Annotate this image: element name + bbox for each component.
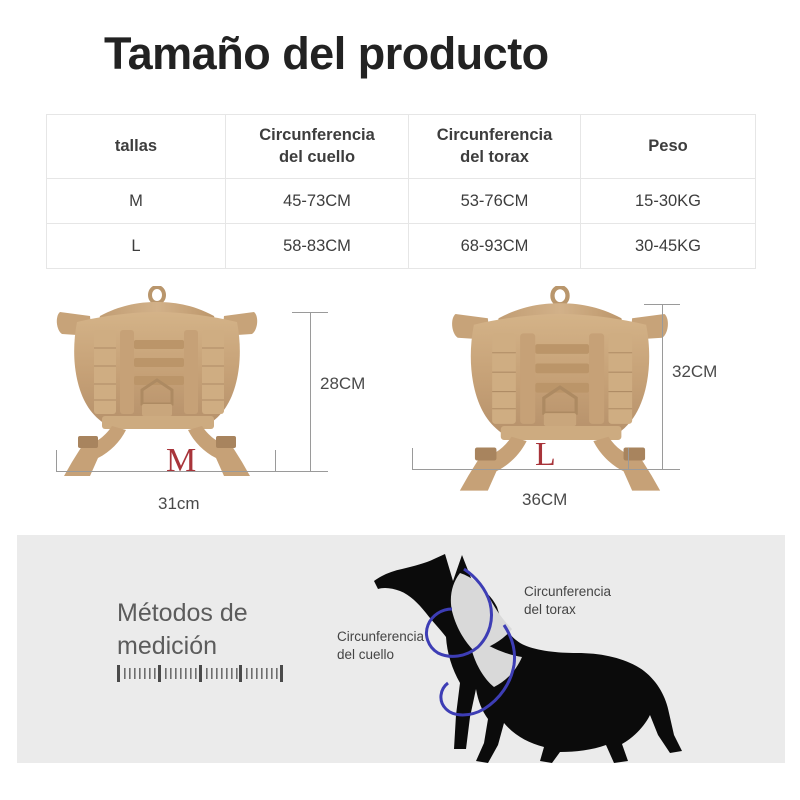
cell-size: M (47, 179, 226, 224)
table-row: L 58-83CM 68-93CM 30-45KG (47, 224, 756, 269)
column-header-size: tallas (47, 115, 226, 179)
cell-weight: 30-45KG (581, 224, 756, 269)
cell-chest: 68-93CM (409, 224, 581, 269)
column-header-chest-line1: Circunferencia (409, 125, 580, 146)
dimension-tick-right-l (628, 448, 629, 470)
column-header-weight-line1: Peso (581, 136, 755, 157)
dimension-width-label-m: 31cm (158, 494, 200, 514)
callout-chest: Circunferencia del torax (524, 583, 611, 619)
column-header-neck-line1: Circunferencia (226, 125, 408, 146)
method-title: Métodos de medición (117, 597, 337, 662)
dimension-guide-vertical-m (310, 312, 311, 472)
table-header-row: tallas Circunferencia del cuello Circunf… (47, 115, 756, 179)
size-letter-m: M (166, 444, 196, 478)
column-header-weight: Peso (581, 115, 756, 179)
ruler-icon (117, 665, 283, 682)
dimension-guide-vertical-l (662, 304, 663, 470)
callout-chest-line1: Circunferencia (524, 583, 611, 601)
cell-weight: 15-30KG (581, 179, 756, 224)
dimension-width-label-l: 36CM (522, 490, 567, 510)
callout-neck-line1: Circunferencia (337, 628, 424, 646)
method-title-line2: medición (117, 630, 337, 663)
callout-chest-line2: del torax (524, 601, 611, 619)
size-letter-l: L (535, 438, 556, 472)
figure-harness-l: 32CM L 36CM (400, 278, 800, 528)
column-header-neck-line2: del cuello (226, 147, 408, 168)
method-title-line1: Métodos de (117, 597, 337, 630)
column-header-size-line1: tallas (47, 136, 225, 157)
cell-size: L (47, 224, 226, 269)
callout-neck: Circunferencia del cuello (337, 628, 424, 664)
figure-harness-m: 28CM M 31cm (20, 278, 420, 528)
harness-illustration-l (436, 286, 684, 496)
table-row: M 45-73CM 53-76CM 15-30KG (47, 179, 756, 224)
dimension-tick-left-l (412, 448, 413, 470)
dimension-tick-top-l (644, 304, 680, 305)
column-header-chest-line2: del torax (409, 147, 580, 168)
harness-illustration-m (42, 286, 272, 481)
cell-neck: 58-83CM (226, 224, 409, 269)
callout-neck-line2: del cuello (337, 646, 424, 664)
dimension-tick-left-m (56, 450, 57, 472)
cell-neck: 45-73CM (226, 179, 409, 224)
page-title: Tamaño del producto (104, 28, 549, 80)
cell-chest: 53-76CM (409, 179, 581, 224)
product-figures: 28CM M 31cm (0, 278, 800, 528)
dimension-height-label-l: 32CM (672, 362, 717, 382)
column-header-chest: Circunferencia del torax (409, 115, 581, 179)
dimension-tick-right-m (275, 450, 276, 472)
dimension-height-label-m: 28CM (320, 374, 365, 394)
column-header-neck: Circunferencia del cuello (226, 115, 409, 179)
dimension-tick-top-m (292, 312, 328, 313)
size-table: tallas Circunferencia del cuello Circunf… (46, 114, 756, 269)
